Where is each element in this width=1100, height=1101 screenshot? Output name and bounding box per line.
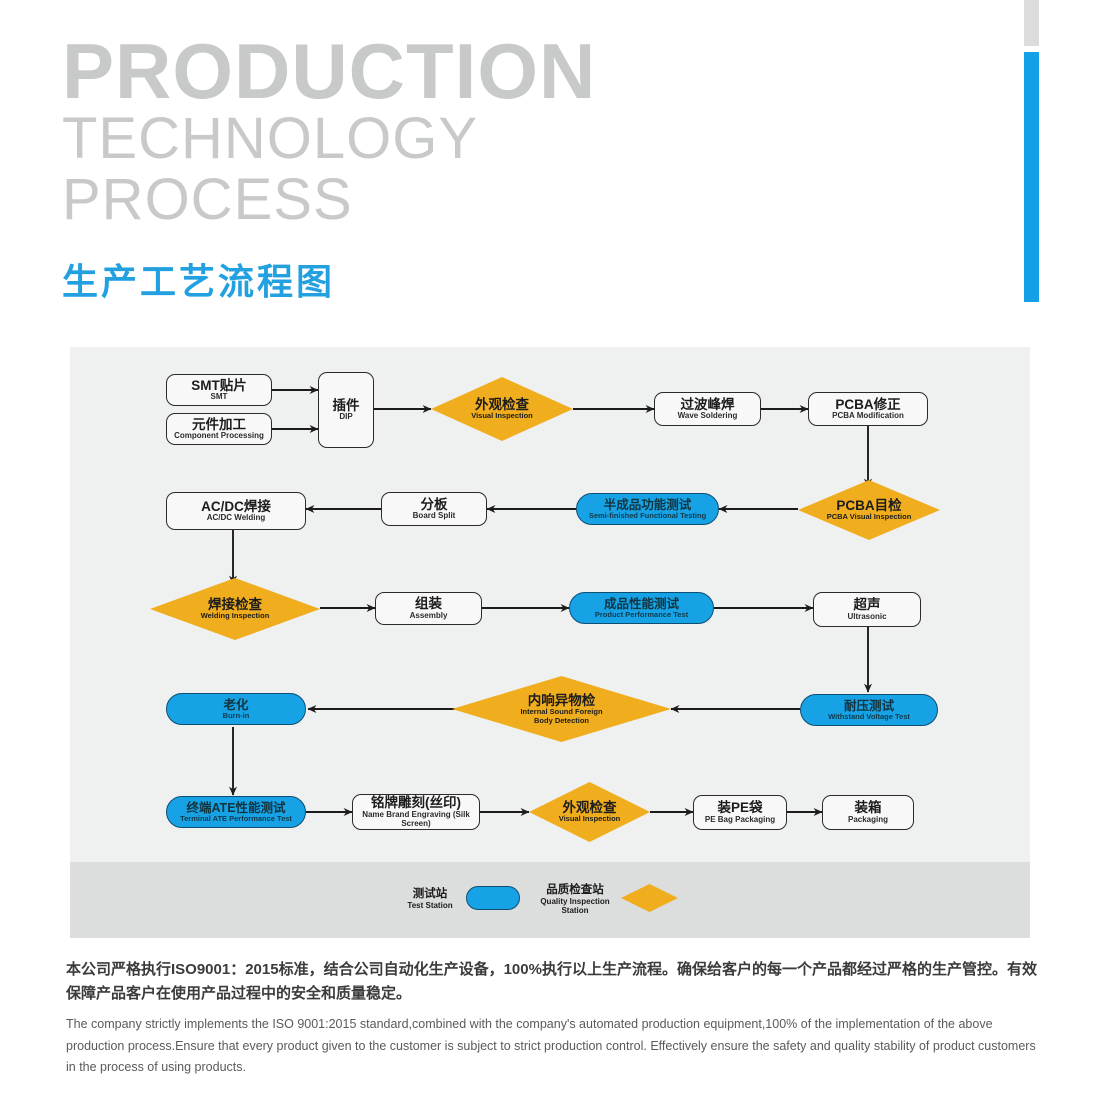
node-assembly[interactable]: 组装 Assembly: [375, 592, 482, 625]
legend-quality-station-label: 品质检查站 Quality Inspection Station: [530, 884, 620, 915]
node-withstand-voltage-test[interactable]: 耐压测试 Withstand Voltage Test: [800, 694, 938, 726]
node-ultrasonic[interactable]: 超声 Ultrasonic: [813, 592, 921, 627]
node-pcba-visual-inspection[interactable]: PCBA目检 PCBA Visual Inspection: [798, 480, 940, 540]
node-welding-inspection[interactable]: 焊接检查 Welding Inspection: [150, 578, 320, 640]
node-visual-inspection-2[interactable]: 外观检查 Visual Inspection: [529, 782, 650, 842]
node-name-brand-engraving[interactable]: 铭牌雕刻(丝印) Name Brand Engraving (Silk Scre…: [352, 794, 480, 830]
node-semi-finished-functional-testing[interactable]: 半成品功能测试 Semi-finished Functional Testing: [576, 493, 719, 525]
node-pcba-modification[interactable]: PCBA修正 PCBA Modification: [808, 392, 928, 426]
footer-text-cn: 本公司严格执行ISO9001：2015标准，结合公司自动化生产设备，100%执行…: [66, 958, 1044, 1007]
node-visual-inspection-1[interactable]: 外观检查 Visual Inspection: [431, 377, 573, 441]
node-wave-soldering[interactable]: 过波峰焊 Wave Soldering: [654, 392, 761, 426]
legend-test-station-label: 测试站 Test Station: [398, 888, 462, 910]
node-internal-sound-foreign-body-detection[interactable]: 内响异物检 Internal Sound Foreign Body Detect…: [452, 676, 671, 742]
node-burn-in[interactable]: 老化 Burn-in: [166, 693, 306, 725]
node-dip[interactable]: 插件 DIP: [318, 372, 374, 448]
legend-test-station-swatch: [466, 886, 520, 910]
flow-connectors: [0, 0, 1100, 1101]
node-product-performance-test[interactable]: 成品性能测试 Product Performance Test: [569, 592, 714, 624]
node-acdc-welding[interactable]: AC/DC焊接 AC/DC Welding: [166, 492, 306, 530]
node-smt[interactable]: SMT贴片 SMT: [166, 374, 272, 406]
footer-text-en: The company strictly implements the ISO …: [66, 1014, 1044, 1079]
node-terminal-ate-performance-test[interactable]: 终端ATE性能测试 Terminal ATE Performance Test: [166, 796, 306, 828]
node-component-processing[interactable]: 元件加工 Component Processing: [166, 413, 272, 445]
node-pe-bag-packaging[interactable]: 装PE袋 PE Bag Packaging: [693, 795, 787, 830]
node-board-split[interactable]: 分板 Board Split: [381, 492, 487, 526]
node-packaging[interactable]: 装箱 Packaging: [822, 795, 914, 830]
